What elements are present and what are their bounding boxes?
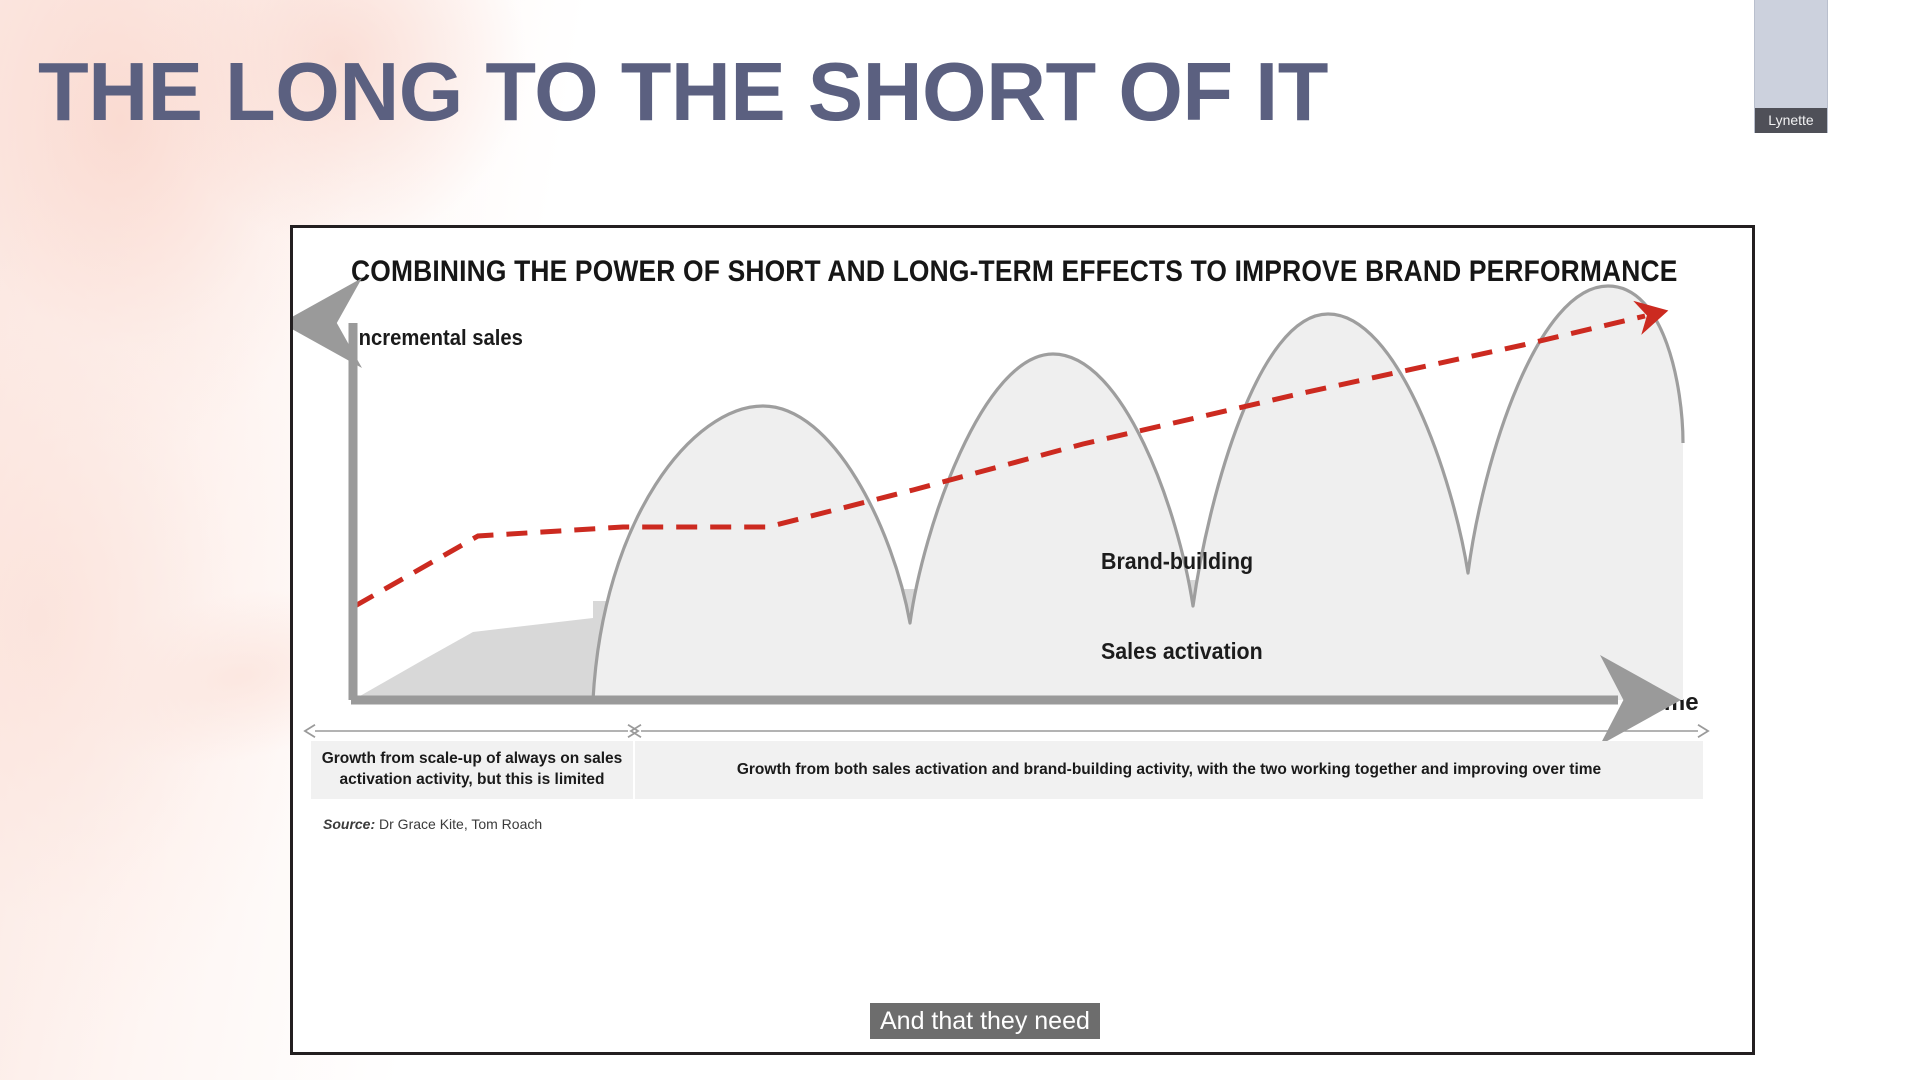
page-title: THE LONG TO THE SHORT OF IT [38, 50, 1328, 133]
participant-name-label: Lynette [1755, 108, 1827, 133]
annotation-short-term: Growth from scale-up of always on sales … [311, 741, 633, 799]
series-label-sales-activation: Sales activation [1101, 638, 1263, 665]
source-value: Dr Grace Kite, Tom Roach [379, 816, 542, 832]
annotation-long-term: Growth from both sales activation and br… [635, 741, 1703, 799]
series-label-brand-building: Brand-building [1101, 548, 1253, 575]
slide-screen: THE LONG TO THE SHORT OF IT Lynette COMB… [0, 0, 1920, 1080]
source-label: Source: [323, 816, 375, 832]
chart-plot [293, 228, 1752, 1052]
chart-card: COMBINING THE POWER OF SHORT AND LONG-TE… [290, 225, 1755, 1055]
participant-video-tile[interactable]: Lynette [1754, 0, 1828, 133]
live-caption: And that they need [870, 1003, 1100, 1039]
source-credit: Source: Dr Grace Kite, Tom Roach [323, 816, 542, 832]
